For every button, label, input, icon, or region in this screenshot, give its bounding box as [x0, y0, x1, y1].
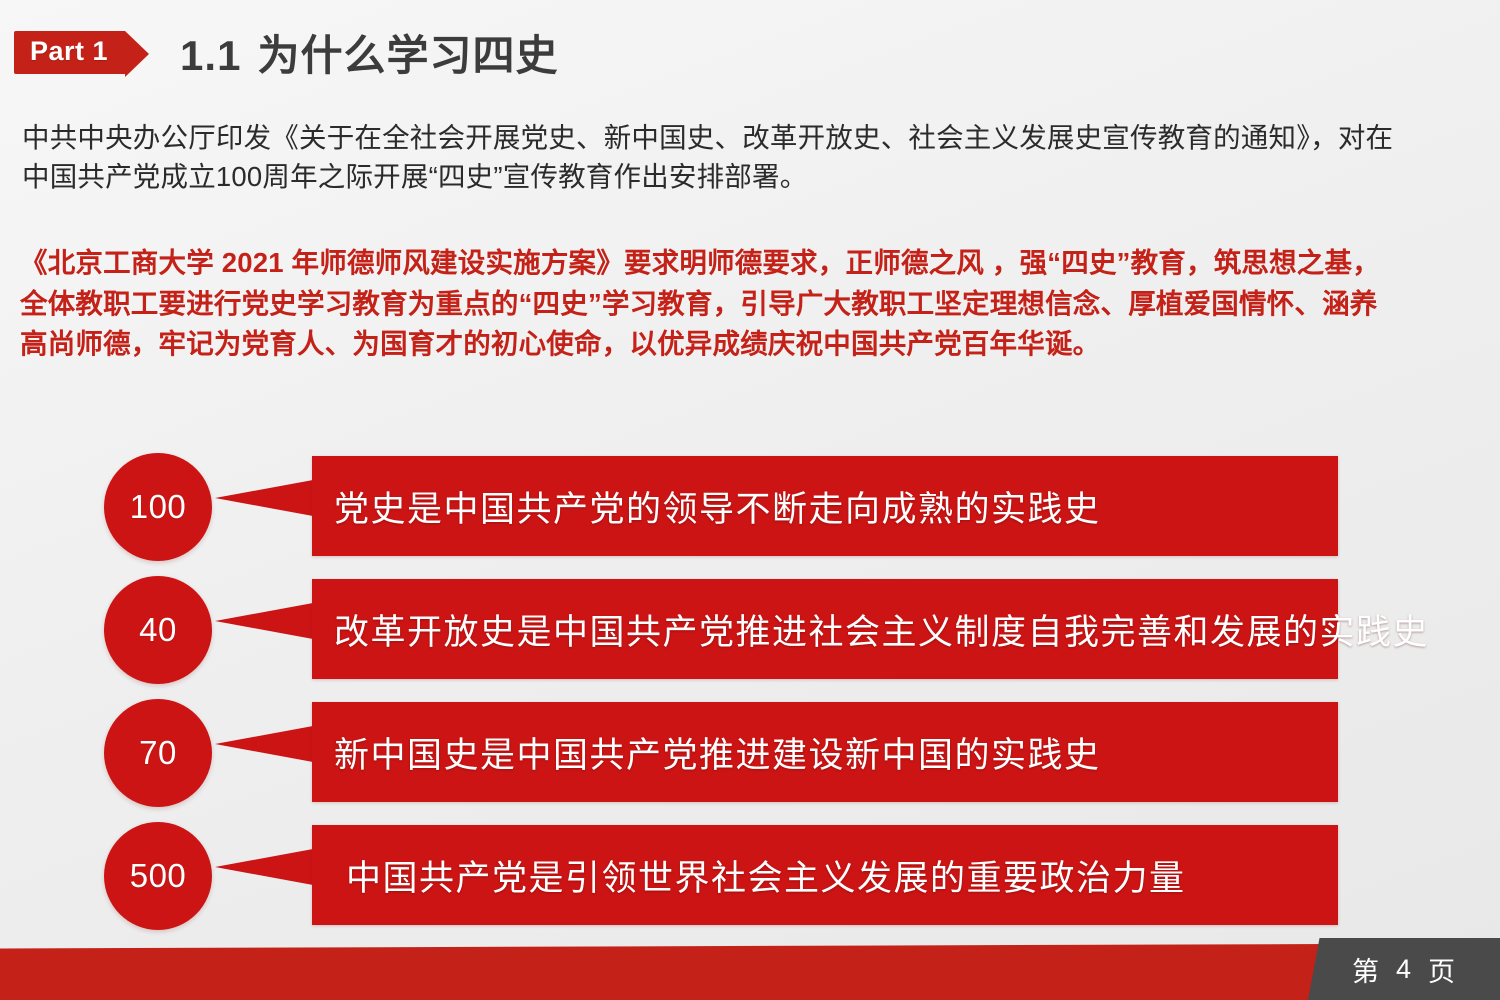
callout-bar-row: 100 党史是中国共产党的领导不断走向成熟的实践史 — [0, 456, 1500, 556]
callout-bar: 改革开放史是中国共产党推进社会主义制度自我完善和发展的实践史 — [312, 579, 1338, 679]
callout-number-badge: 100 — [104, 453, 212, 561]
callout-pointer-icon — [215, 480, 313, 516]
callout-bar: 新中国史是中国共产党推进建设新中国的实践史 — [312, 702, 1338, 802]
page-indicator-number: 4 — [1396, 954, 1412, 985]
intro-paragraph: 中共中央办公厅印发《关于在全社会开展党史、新中国史、改革开放史、社会主义发展史宣… — [22, 118, 1482, 196]
section-title-text: 为什么学习四史 — [257, 32, 558, 79]
callout-bar-row: 40 改革开放史是中国共产党推进社会主义制度自我完善和发展的实践史 — [0, 579, 1500, 679]
callout-number-badge: 500 — [104, 822, 212, 930]
part-badge: Part 1 — [14, 31, 125, 74]
callout-pointer-icon — [215, 603, 313, 639]
highlight-paragraph-line-1: 《北京工商大学 2021 年师德师风建设实施方案》要求明师德要求，正师德之风 ，… — [20, 243, 1490, 284]
callout-bar-row: 500 中国共产党是引领世界社会主义发展的重要政治力量 — [0, 825, 1500, 925]
highlight-paragraph-line-2: 全体教职工要进行党史学习教育为重点的“四史”学习教育，引导广大教职工坚定理想信念… — [20, 284, 1490, 325]
callout-bar: 党史是中国共产党的领导不断走向成熟的实践史 — [312, 456, 1338, 556]
callout-bar-list: 100 党史是中国共产党的领导不断走向成熟的实践史 40 改革开放史是中国共产党… — [0, 450, 1500, 920]
page-indicator-suffix: 页 — [1428, 950, 1456, 989]
callout-bar-label: 中国共产党是引领世界社会主义发展的重要政治力量 — [312, 850, 1186, 901]
callout-bar-row: 70 新中国史是中国共产党推进建设新中国的实践史 — [0, 702, 1500, 802]
callout-pointer-icon — [215, 849, 313, 885]
footer-accent-bar — [0, 944, 1330, 1000]
section-number: 1.1 — [180, 32, 241, 79]
highlight-paragraph-line-3: 高尚师德，牢记为党育人、为国育才的初心使命，以优异成绩庆祝中国共产党百年华诞。 — [20, 324, 1490, 365]
slide-footer: 第 4 页 — [0, 938, 1500, 1000]
callout-pointer-icon — [215, 726, 313, 762]
page-indicator: 第 4 页 — [1308, 938, 1500, 1000]
callout-bar-label: 新中国史是中国共产党推进建设新中国的实践史 — [312, 727, 1101, 778]
page-indicator-prefix: 第 — [1352, 950, 1380, 989]
callout-bar-label: 党史是中国共产党的领导不断走向成熟的实践史 — [312, 481, 1101, 532]
slide-header: Part 1 1.1为什么学习四史 — [14, 22, 558, 83]
intro-paragraph-line-2: 中国共产党成立100周年之际开展“四史”宣传教育作出安排部署。 — [22, 157, 1482, 196]
page-title: 1.1为什么学习四史 — [180, 22, 558, 83]
callout-bar: 中国共产党是引领世界社会主义发展的重要政治力量 — [312, 825, 1338, 925]
highlight-paragraph: 《北京工商大学 2021 年师德师风建设实施方案》要求明师德要求，正师德之风 ，… — [20, 243, 1490, 365]
callout-number-badge: 70 — [104, 699, 212, 807]
intro-paragraph-line-1: 中共中央办公厅印发《关于在全社会开展党史、新中国史、改革开放史、社会主义发展史宣… — [22, 122, 1393, 153]
callout-bar-label: 改革开放史是中国共产党推进社会主义制度自我完善和发展的实践史 — [312, 604, 1429, 655]
callout-number-badge: 40 — [104, 576, 212, 684]
